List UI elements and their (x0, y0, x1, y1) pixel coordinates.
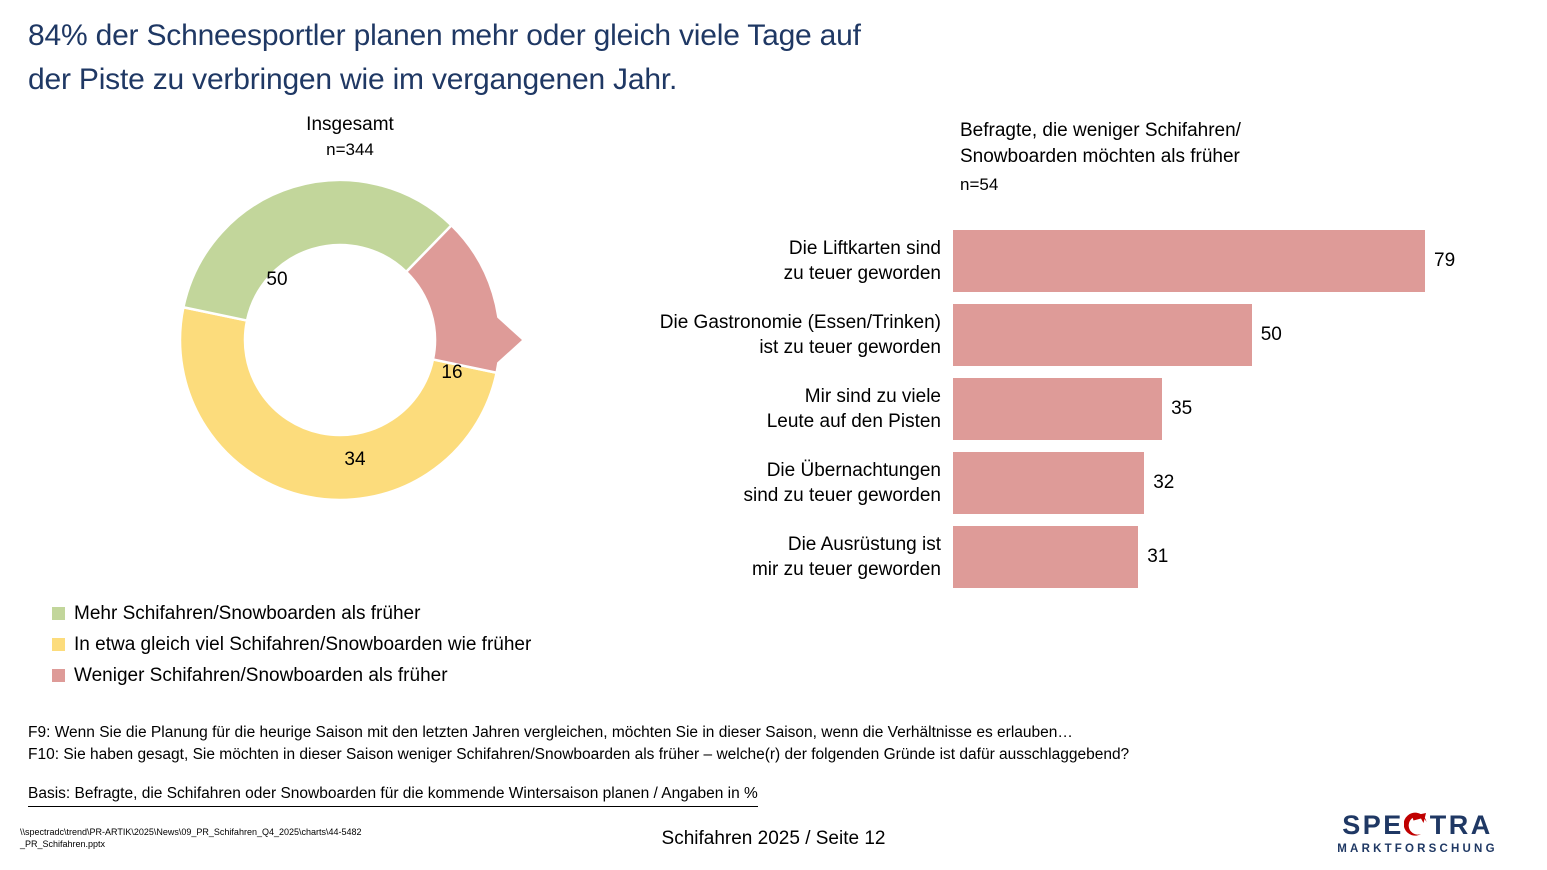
legend-swatch-rose (52, 669, 65, 682)
donut-chart-block: Insgesamt n=344 50 34 16 (150, 112, 550, 510)
bar-label-line-1: Die Ausrüstung ist (600, 532, 941, 557)
bar-row[interactable]: Die Liftkarten sind zu teuer geworden 79 (600, 230, 1530, 292)
logo-wordmark: SPE TRA (1310, 810, 1525, 840)
bar-label-line-2: sind zu teuer geworden (600, 483, 941, 508)
legend-swatch-yellow (52, 638, 65, 651)
bar-label-line-1: Die Gastronomie (Essen/Trinken) (600, 310, 941, 335)
donut-heading: Insgesamt (150, 112, 550, 138)
bar-label-line-2: mir zu teuer geworden (600, 557, 941, 582)
donut-value-rose: 16 (441, 362, 462, 384)
bar-value-uebernachtungen: 32 (1153, 472, 1174, 494)
bar-label-leute: Mir sind zu viele Leute auf den Pisten (600, 384, 953, 434)
bar-track: 32 (953, 452, 1530, 514)
bar-fill-gastronomie[interactable] (953, 304, 1252, 366)
bar-value-leute: 35 (1171, 398, 1192, 420)
donut-sample-size: n=344 (150, 138, 550, 162)
bar-row[interactable]: Die Ausrüstung ist mir zu teuer geworden… (600, 526, 1530, 588)
spectra-logo: SPE TRA MARKTFORSCHUNG (1310, 810, 1525, 857)
page-title: 84% der Schneesportler planen mehr oder … (28, 14, 1228, 102)
bar-list: Die Liftkarten sind zu teuer geworden 79… (600, 230, 1530, 600)
bar-track: 50 (953, 304, 1530, 366)
bar-track: 35 (953, 378, 1530, 440)
footnote-f9: F9: Wenn Sie die Planung für die heurige… (28, 722, 1508, 744)
bar-chart-heading: Befragte, die weniger Schifahren/ Snowbo… (960, 118, 1520, 200)
footnote-f10: F10: Sie haben gesagt, Sie möchten in di… (28, 744, 1508, 766)
bar-row[interactable]: Die Gastronomie (Essen/Trinken) ist zu t… (600, 304, 1530, 366)
bar-label-line-2: Leute auf den Pisten (600, 409, 941, 434)
bar-chart-block: Befragte, die weniger Schifahren/ Snowbo… (600, 118, 1530, 618)
slide-canvas: 84% der Schneesportler planen mehr oder … (0, 0, 1547, 870)
bar-fill-leute[interactable] (953, 378, 1162, 440)
bar-row[interactable]: Die Übernachtungen sind zu teuer geworde… (600, 452, 1530, 514)
bar-label-uebernachtungen: Die Übernachtungen sind zu teuer geworde… (600, 458, 953, 508)
title-line-2: der Piste zu verbringen wie im vergangen… (28, 58, 1228, 102)
bar-label-line-1: Die Liftkarten sind (600, 236, 941, 261)
logo-text-pre: SPE (1342, 810, 1404, 840)
bar-fill-uebernachtungen[interactable] (953, 452, 1144, 514)
footnotes: F9: Wenn Sie die Planung für die heurige… (28, 722, 1508, 766)
footnote-basis: Basis: Befragte, die Schifahren oder Sno… (28, 783, 758, 807)
bar-label-ausruestung: Die Ausrüstung ist mir zu teuer geworden (600, 532, 953, 582)
legend-swatch-green (52, 607, 65, 620)
donut-graphic: 50 34 16 (150, 170, 550, 510)
donut-value-yellow: 50 (266, 269, 287, 291)
title-line-1: 84% der Schneesportler planen mehr oder … (28, 14, 1228, 58)
bar-fill-ausruestung[interactable] (953, 526, 1138, 588)
donut-slice-1[interactable] (183, 180, 451, 321)
bar-row[interactable]: Mir sind zu viele Leute auf den Pisten 3… (600, 378, 1530, 440)
donut-value-green: 34 (344, 449, 365, 471)
legend-item-mehr[interactable]: Mehr Schifahren/Snowboarden als früher (52, 598, 531, 629)
donut-legend: Mehr Schifahren/Snowboarden als früher I… (52, 598, 531, 691)
bar-label-line-2: zu teuer geworden (600, 261, 941, 286)
logo-subtitle: MARKTFORSCHUNG (1310, 841, 1525, 857)
legend-label-gleich: In etwa gleich viel Schifahren/Snowboard… (74, 634, 531, 656)
legend-label-mehr: Mehr Schifahren/Snowboarden als früher (74, 603, 420, 625)
bar-value-liftkarten: 79 (1434, 250, 1455, 272)
bar-sample-size: n=54 (960, 170, 1520, 200)
bar-value-gastronomie: 50 (1261, 324, 1282, 346)
legend-item-gleich[interactable]: In etwa gleich viel Schifahren/Snowboard… (52, 629, 531, 660)
bar-value-ausruestung: 31 (1147, 546, 1168, 568)
legend-item-weniger[interactable]: Weniger Schifahren/Snowboarden als frühe… (52, 660, 531, 691)
bar-label-line-1: Die Übernachtungen (600, 458, 941, 483)
bar-label-line-2: ist zu teuer geworden (600, 335, 941, 360)
bar-heading-line-1: Befragte, die weniger Schifahren/ (960, 118, 1520, 144)
bar-label-gastronomie: Die Gastronomie (Essen/Trinken) ist zu t… (600, 310, 953, 360)
bar-track: 79 (953, 230, 1530, 292)
logo-text-post: TRA (1430, 810, 1493, 840)
bar-fill-liftkarten[interactable] (953, 230, 1425, 292)
legend-label-weniger: Weniger Schifahren/Snowboarden als frühe… (74, 665, 448, 687)
bar-track: 31 (953, 526, 1530, 588)
bar-label-liftkarten: Die Liftkarten sind zu teuer geworden (600, 236, 953, 286)
logo-c-swoosh-icon (1404, 811, 1430, 839)
bar-label-line-1: Mir sind zu viele (600, 384, 941, 409)
bar-heading-line-2: Snowboarden möchten als früher (960, 144, 1520, 170)
